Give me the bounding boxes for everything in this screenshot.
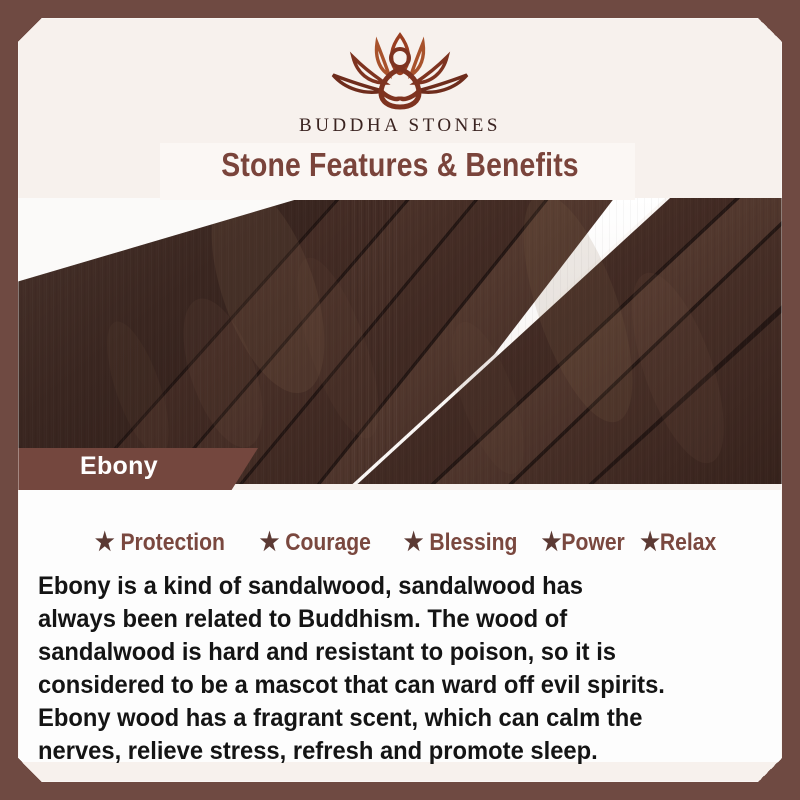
benefit-item: ★ Protection xyxy=(95,527,225,557)
frame-border-right xyxy=(782,0,800,800)
benefit-item: ★ Blessing xyxy=(404,527,518,557)
star-icon: ★ xyxy=(95,528,115,556)
benefit-label: Courage xyxy=(285,529,371,556)
star-icon: ★ xyxy=(542,528,562,556)
star-icon: ★ xyxy=(640,528,660,556)
benefit-item: ★ Courage xyxy=(259,527,370,557)
benefits-row: ★ Protection★ Courage★ Blessing★Power★Re… xyxy=(19,527,781,557)
star-icon: ★ xyxy=(259,528,279,556)
benefit-label: Relax xyxy=(660,529,716,556)
corner-accent-top-left xyxy=(0,0,60,60)
ebony-wood-planks-photo xyxy=(18,198,782,484)
benefit-item: ★Relax xyxy=(640,527,716,557)
brand-name: BUDDHA STONES xyxy=(299,115,501,137)
corner-accent-bottom-left xyxy=(0,740,60,800)
benefit-label: Protection xyxy=(120,529,224,556)
infographic-page: BUDDHA STONES Stone Features & Benefits … xyxy=(0,0,800,800)
lotus-meditation-icon xyxy=(315,27,485,113)
frame-border-top xyxy=(0,0,800,18)
benefit-item: ★Power xyxy=(542,527,625,557)
corner-accent-top-right xyxy=(740,0,800,60)
frame-border-left xyxy=(0,0,18,800)
page-title: Stone Features & Benefits xyxy=(56,146,744,184)
star-icon: ★ xyxy=(404,528,424,556)
description-text: Ebony is a kind of sandalwood, sandalwoo… xyxy=(38,570,665,768)
benefit-label: Blessing xyxy=(429,529,517,556)
product-label: Ebony xyxy=(80,452,158,481)
brand-logo-block: BUDDHA STONES xyxy=(0,18,800,146)
frame-border-bottom xyxy=(0,782,800,800)
benefit-label: Power xyxy=(562,529,625,556)
corner-accent-bottom-right xyxy=(740,740,800,800)
